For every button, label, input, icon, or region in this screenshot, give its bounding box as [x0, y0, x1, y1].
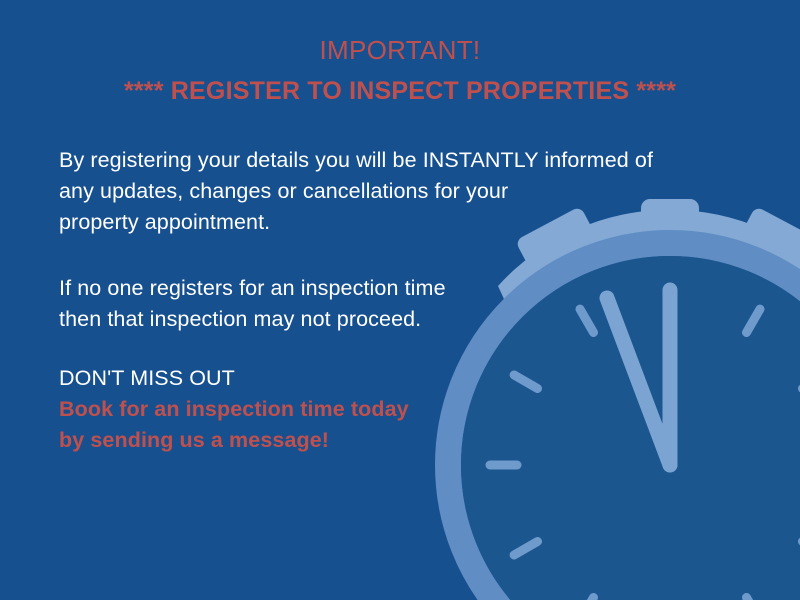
intro-line-1: By registering your details you will be … [59, 145, 719, 176]
cta-dont-miss-out: DON'T MISS OUT [59, 363, 719, 394]
call-to-action-block: DON'T MISS OUT Book for an inspection ti… [59, 363, 719, 456]
headline-group: IMPORTANT! **** REGISTER TO INSPECT PROP… [0, 33, 800, 108]
presentation-slide: IMPORTANT! **** REGISTER TO INSPECT PROP… [0, 0, 800, 600]
notice-paragraph: If no one registers for an inspection ti… [59, 273, 719, 335]
cta-send-message: by sending us a message! [59, 425, 719, 456]
cta-book-inspection: Book for an inspection time today [59, 394, 719, 425]
intro-line-3: property appointment. [59, 207, 719, 238]
notice-line-1: If no one registers for an inspection ti… [59, 273, 719, 304]
headline-register: **** REGISTER TO INSPECT PROPERTIES **** [0, 74, 800, 108]
notice-line-2: then that inspection may not proceed. [59, 304, 719, 335]
slide-content: IMPORTANT! **** REGISTER TO INSPECT PROP… [0, 0, 800, 600]
intro-paragraph: By registering your details you will be … [59, 145, 719, 238]
intro-line-2: any updates, changes or cancellations fo… [59, 176, 719, 207]
headline-important: IMPORTANT! [0, 33, 800, 67]
